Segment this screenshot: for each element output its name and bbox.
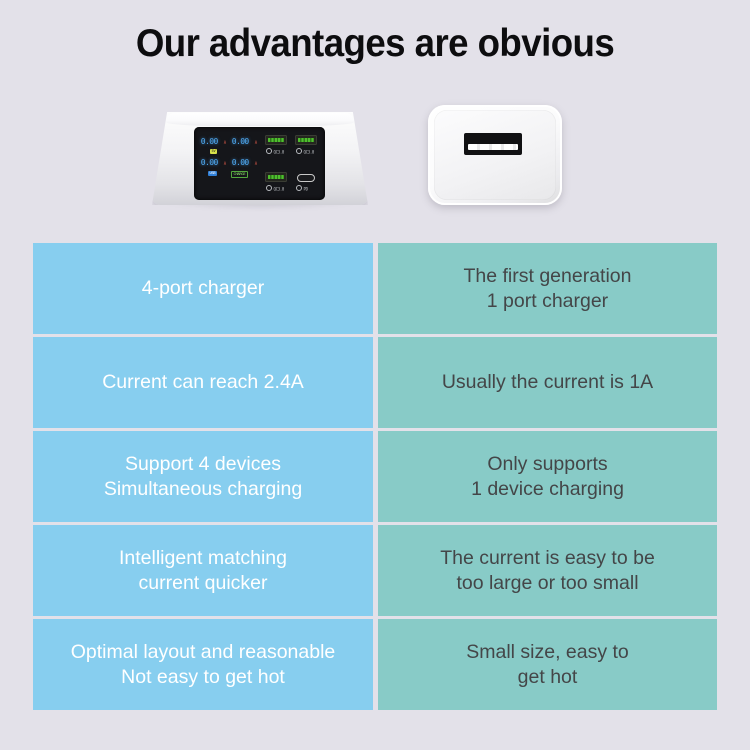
page-title: Our advantages are obvious [23,22,728,66]
cell-line: Not easy to get hot [71,665,336,690]
comparison-table: 4-port charger The first generation 1 po… [33,243,717,710]
display-readouts: 0.00 A 0.00 A 0.00 A 0.00 A 5V USB CHARG… [198,135,260,193]
readout-unit-4: A [255,161,257,166]
charger-port-cluster: QC3.0 QC3.0 QC3.0 PD [264,132,322,196]
readout-row-1: 0.00 A 0.00 A [198,137,260,150]
readout-unit-1: A [224,140,226,145]
cell-line: Simultaneous charging [104,477,302,502]
cell-line: Only supports [471,452,624,477]
comparison-cell-left: 4-port charger [33,243,373,334]
cell-line: Current can reach 2.4A [102,370,304,395]
cell-line: 4-port charger [142,276,264,301]
port-label-4: PD [296,185,308,192]
usb-a-port-icon-3 [265,172,287,182]
readout-row-2: 0.00 A 0.00 A [198,158,260,171]
cell-line: The current is easy to be [440,546,655,571]
table-row: Support 4 devices Simultaneous charging … [33,431,717,522]
readout-value-2: 0.00 [232,137,249,146]
display-tag-usb: USB [208,171,217,176]
cell-line: 1 port charger [463,289,631,314]
cell-line: get hot [466,665,629,690]
cell-line: Usually the current is 1A [442,370,653,395]
comparison-cell-right: The first generation 1 port charger [378,243,717,334]
comparison-cell-left: Support 4 devices Simultaneous charging [33,431,373,522]
charger-led-display: 0.00 A 0.00 A 0.00 A 0.00 A 5V USB CHARG… [194,127,325,200]
cell-line: current quicker [119,571,287,596]
readout-value-1: 0.00 [201,137,218,146]
usb-a-port-icon-2 [295,135,317,145]
comparison-cell-right: Usually the current is 1A [378,337,717,428]
comparison-cell-left: Intelligent matching current quicker [33,525,373,616]
port-label-2: QC3.0 [296,148,314,155]
table-row: Intelligent matching current quicker The… [33,525,717,616]
readout-unit-3: A [224,161,226,166]
table-row: 4-port charger The first generation 1 po… [33,243,717,334]
readout-unit-2: A [255,140,257,145]
comparison-cell-left: Current can reach 2.4A [33,337,373,428]
comparison-cell-right: The current is easy to be too large or t… [378,525,717,616]
table-row: Current can reach 2.4A Usually the curre… [33,337,717,428]
comparison-cell-right: Only supports 1 device charging [378,431,717,522]
product-showcase: 0.00 A 0.00 A 0.00 A 0.00 A 5V USB CHARG… [0,90,750,230]
cell-line: Optimal layout and reasonable [71,640,336,665]
port-label-3: QC3.0 [266,185,284,192]
charger-top-highlight [166,113,354,126]
cell-line: Support 4 devices [104,452,302,477]
multi-port-charger-image: 0.00 A 0.00 A 0.00 A 0.00 A 5V USB CHARG… [152,112,368,205]
usb-c-port-icon [297,174,315,182]
cell-line: Small size, easy to [466,640,629,665]
usb-a-port-icon-single [464,133,522,155]
readout-value-4: 0.00 [232,158,249,167]
cell-line: Intelligent matching [119,546,287,571]
display-tag-charge: CHARGE [231,171,248,178]
readout-value-3: 0.00 [201,158,218,167]
comparison-cell-right: Small size, easy to get hot [378,619,717,710]
cell-line: too large or too small [440,571,655,596]
comparison-cell-left: Optimal layout and reasonable Not easy t… [33,619,373,710]
cell-line: 1 device charging [471,477,624,502]
cell-line: The first generation [463,264,631,289]
port-label-1: QC3.0 [266,148,284,155]
display-tag-5v: 5V [210,149,217,154]
table-row: Optimal layout and reasonable Not easy t… [33,619,717,710]
usb-a-port-icon-1 [265,135,287,145]
single-port-charger-image [428,105,562,205]
wall-charger-face [434,110,556,200]
